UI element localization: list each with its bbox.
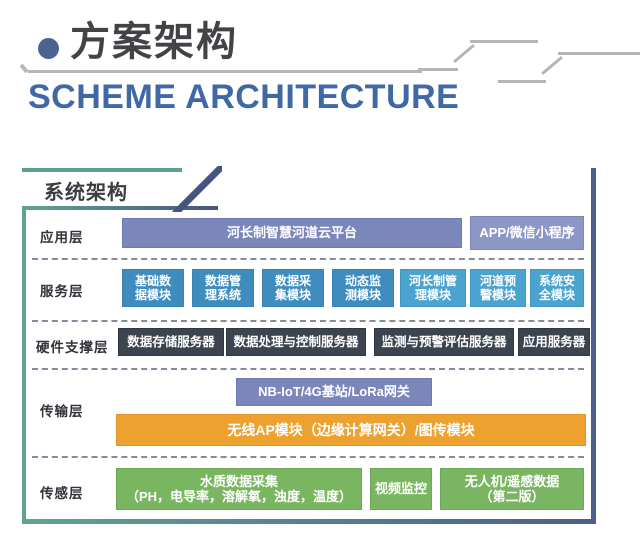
panel-border-right: [591, 168, 596, 524]
layer-label-service: 服务层: [40, 280, 84, 300]
layer-label-transmission: 传输层: [40, 400, 84, 420]
layer-box-sensor-2[interactable]: 无人机/遥感数据 （第二版）: [440, 468, 584, 510]
panel-border-bottom: [22, 519, 596, 524]
layer-box-hardware-2[interactable]: 监测与预警评估服务器: [374, 328, 514, 356]
layer-separator-4: [32, 456, 584, 458]
layer-box-application-0[interactable]: 河长制智慧河道云平台: [122, 218, 462, 248]
layer-row-service: 服务层 基础数 据模块 数据管 理系统 数据采 集模块 动态监 测模块 河长制管…: [26, 262, 591, 314]
layer-separator-3: [32, 368, 584, 370]
layer-label-hardware: 硬件支撑层: [36, 336, 109, 356]
bullet-dot-icon: [38, 38, 59, 59]
layer-separator-2: [32, 320, 584, 322]
layer-box-service-5[interactable]: 河道预 警模块: [470, 269, 526, 307]
page-title-en: SCHEME ARCHITECTURE: [28, 80, 459, 114]
layer-label-sensor: 传感层: [40, 482, 84, 502]
layer-separator-1: [32, 258, 584, 260]
layer-box-application-1[interactable]: APP/微信小程序: [470, 216, 584, 250]
page-title-cn: 方案架构: [70, 22, 238, 62]
layer-box-service-6[interactable]: 系统安 全模块: [530, 269, 584, 307]
layer-row-application: 应用层 河长制智慧河道云平台 APP/微信小程序: [26, 212, 591, 256]
layer-box-transmission-0[interactable]: NB-IoT/4G基站/LoRa网关: [236, 378, 432, 406]
architecture-panel: 系统架构 应用层 河长制智慧河道云平台 APP/微信小程序 服务层 基础数 据模…: [22, 168, 596, 524]
layer-row-sensor: 传感层 水质数据采集 （PH，电导率，溶解氧，浊度，温度） 视频监控 无人机/遥…: [26, 460, 591, 516]
header-zigzag-2: [498, 52, 640, 86]
layer-box-sensor-0[interactable]: 水质数据采集 （PH，电导率，溶解氧，浊度，温度）: [116, 468, 362, 510]
layer-row-transmission: 传输层 NB-IoT/4G基站/LoRa网关 无线AP模块（边缘计算网关）/图传…: [26, 372, 591, 452]
panel-tab: 系统架构: [22, 168, 218, 210]
layer-box-service-0[interactable]: 基础数 据模块: [122, 269, 184, 307]
layer-box-hardware-1[interactable]: 数据处理与控制服务器: [226, 328, 366, 356]
layer-box-service-3[interactable]: 动态监 测模块: [332, 269, 394, 307]
layer-label-application: 应用层: [40, 226, 84, 246]
layer-row-hardware: 硬件支撑层 数据存储服务器 数据处理与控制服务器 监测与预警评估服务器 应用服务…: [26, 324, 591, 364]
layer-box-transmission-1[interactable]: 无线AP模块（边缘计算网关）/图传模块: [116, 414, 586, 446]
tab-diagonal-edge: [172, 166, 222, 212]
layer-box-hardware-3[interactable]: 应用服务器: [518, 328, 590, 356]
layer-box-service-4[interactable]: 河长制管 理模块: [400, 269, 466, 307]
layer-box-service-2[interactable]: 数据采 集模块: [262, 269, 324, 307]
page-header: 方案架构 SCHEME ARCHITECTURE: [0, 0, 640, 140]
layer-box-sensor-1[interactable]: 视频监控: [370, 468, 432, 510]
header-rule-left: [22, 70, 422, 74]
tab-rule-top: [22, 168, 182, 172]
layer-box-hardware-0[interactable]: 数据存储服务器: [118, 328, 224, 356]
tab-label: 系统架构: [44, 176, 128, 205]
layer-box-service-1[interactable]: 数据管 理系统: [192, 269, 254, 307]
